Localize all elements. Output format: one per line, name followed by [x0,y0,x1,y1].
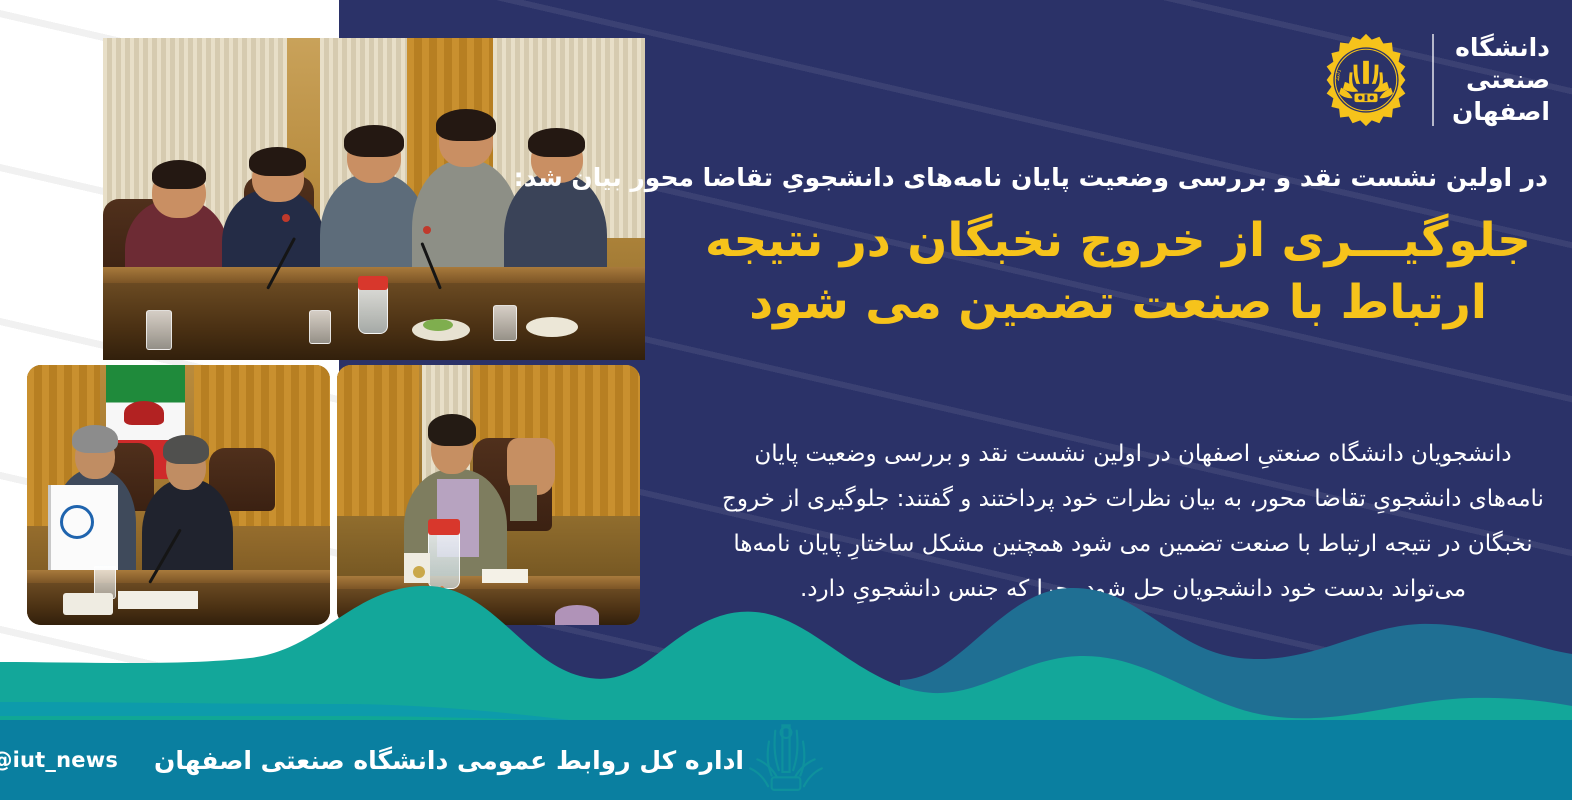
brand-line-2: صنعتی [1452,64,1550,96]
iut-line-logo-icon [740,720,832,800]
photo-main-meeting [103,38,645,360]
footer-bar: اداره کل روابط عمومی دانشگاه صنعتی اصفها… [0,720,1572,800]
footer-organization-label: اداره کل روابط عمومی دانشگاه صنعتی اصفها… [154,746,744,775]
brand-line-1: دانشگاه [1452,32,1550,64]
article-kicker: در اولین نشست نقد و بررسی وضعیت پایان نا… [658,163,1548,192]
social-links: iut.news @iut_news [0,746,118,774]
article-headline: جلوگیـــری از خروج نخبگان در نتیجه ارتبا… [688,210,1548,334]
brand-lockup: دانشگاه صنعتی اصفهان [1318,32,1550,128]
news-poster: دانشگاه صنعتی اصفهان [0,0,1572,800]
iut-gear-logo-icon: دانشگاه صنعتی اصفهان [1318,32,1414,128]
messenger-handle[interactable]: @iut_news [0,748,118,772]
brand-line-3: اصفهان [1452,96,1550,128]
brand-divider [1432,34,1434,126]
brand-wordmark: دانشگاه صنعتی اصفهان [1452,32,1550,128]
